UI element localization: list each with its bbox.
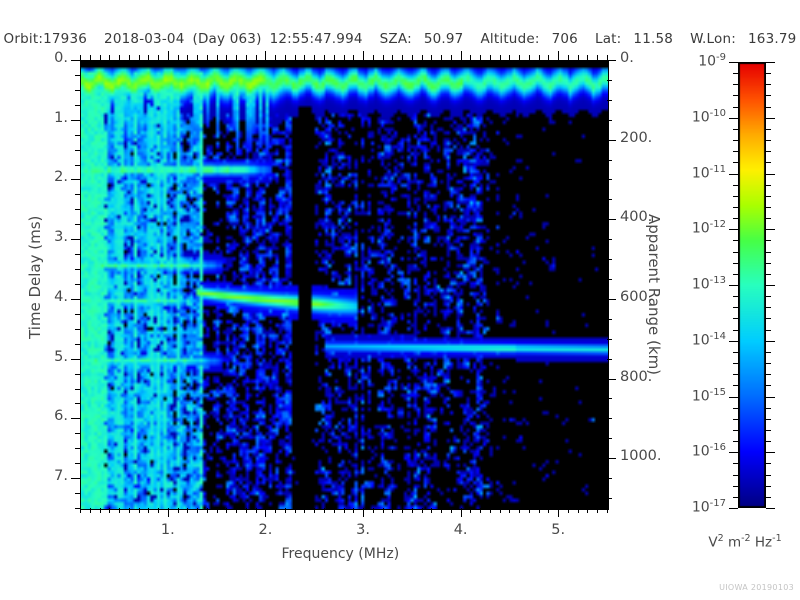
- y2-axis-minor-tick: [607, 239, 612, 240]
- x-axis-major-tick: [168, 508, 169, 517]
- ionogram-figure: Orbit:17936 2018-03-04 (Day 063) 12:55:4…: [0, 0, 800, 600]
- x-axis-top-tick: [139, 55, 140, 60]
- x-axis-top-tick: [226, 55, 227, 60]
- x-axis-minor-tick: [90, 508, 91, 513]
- colorbar-minor-tick: [733, 363, 738, 364]
- colorbar-label-mantissa: 10: [692, 277, 710, 293]
- y-axis-minor-tick: [75, 150, 80, 151]
- spectrogram-plot-area: [80, 60, 609, 510]
- y-axis-major-tick: [71, 179, 80, 180]
- colorbar-minor-tick: [766, 374, 771, 375]
- colorbar-major-tick: [729, 174, 738, 175]
- y-axis-minor-tick: [75, 463, 80, 464]
- colorbar-tick-label: 10-13: [672, 275, 726, 293]
- y2-axis-minor-tick: [607, 398, 612, 399]
- west-longitude-label: W.Lon:: [690, 31, 736, 47]
- colorbar-minor-tick: [733, 73, 738, 74]
- x-axis-top-tick: [392, 55, 393, 60]
- colorbar-label-mantissa: 10: [698, 54, 716, 70]
- colorbar-minor-tick: [766, 207, 771, 208]
- colorbar-minor-tick: [733, 307, 738, 308]
- y2-axis-major-tick: [607, 458, 616, 459]
- y-axis-minor-tick: [75, 165, 80, 166]
- unit-meters: m: [728, 535, 741, 551]
- x-axis-top-tick: [509, 55, 510, 60]
- y2-axis-major-tick: [607, 299, 616, 300]
- colorbar-major-tick: [766, 285, 775, 286]
- x-axis-minor-tick: [392, 508, 393, 513]
- colorbar-minor-tick: [733, 352, 738, 353]
- x-axis-title: Frequency (MHz): [282, 546, 400, 562]
- x-axis-minor-tick: [256, 508, 257, 513]
- west-longitude-value: 163.79: [748, 31, 796, 47]
- x-axis-minor-tick: [139, 508, 140, 513]
- spectrogram-image: [81, 61, 608, 509]
- x-axis-top-tick: [461, 51, 462, 60]
- x-axis-minor-tick: [587, 508, 588, 513]
- x-axis-minor-tick: [490, 508, 491, 513]
- x-axis-top-tick: [353, 55, 354, 60]
- y2-axis-tick-label: 1000.: [620, 448, 674, 464]
- x-axis-minor-tick: [519, 508, 520, 513]
- colorbar-minor-tick: [733, 296, 738, 297]
- colorbar-minor-tick: [733, 84, 738, 85]
- y2-axis-minor-tick: [607, 359, 612, 360]
- y-axis-major-tick: [71, 239, 80, 240]
- colorbar-minor-tick: [733, 129, 738, 130]
- y2-axis-minor-tick: [607, 259, 612, 260]
- y2-axis-tick-label: 0.: [620, 50, 674, 66]
- x-axis-top-tick: [285, 55, 286, 60]
- y2-axis-major-tick: [607, 140, 616, 141]
- sza-label: SZA:: [380, 31, 412, 47]
- colorbar-tick-label: 10-17: [672, 498, 726, 516]
- y-axis-minor-tick: [75, 344, 80, 345]
- x-axis-major-tick: [363, 508, 364, 517]
- colorbar-minor-tick: [766, 162, 771, 163]
- y2-axis-minor-tick: [607, 100, 612, 101]
- colorbar-minor-tick: [766, 263, 771, 264]
- x-axis-minor-tick: [500, 508, 501, 513]
- x-axis-top-tick: [207, 55, 208, 60]
- colorbar-minor-tick: [766, 218, 771, 219]
- y-axis-minor-tick: [75, 135, 80, 136]
- x-axis-minor-tick: [158, 508, 159, 513]
- x-axis-top-tick: [246, 55, 247, 60]
- colorbar-minor-tick: [766, 486, 771, 487]
- colorbar-minor-tick: [766, 151, 771, 152]
- x-axis-minor-tick: [285, 508, 286, 513]
- colorbar-unit-label: V2 m-2 Hz-1: [690, 533, 800, 551]
- colorbar-label-mantissa: 10: [692, 500, 710, 516]
- sza-value: 50.97: [424, 31, 464, 47]
- x-axis-minor-tick: [324, 508, 325, 513]
- colorbar-minor-tick: [766, 430, 771, 431]
- colorbar-minor-tick: [733, 463, 738, 464]
- y2-axis-minor-tick: [607, 199, 612, 200]
- x-axis-top-tick: [168, 51, 169, 60]
- unit-hertz-exponent: -1: [772, 533, 781, 544]
- x-axis-top-tick: [80, 55, 81, 60]
- colorbar-minor-tick: [766, 408, 771, 409]
- colorbar-minor-tick: [733, 263, 738, 264]
- x-axis-major-tick: [265, 508, 266, 517]
- colorbar-minor-tick: [766, 185, 771, 186]
- x-axis-minor-tick: [217, 508, 218, 513]
- x-axis-top-tick: [148, 55, 149, 60]
- x-axis-minor-tick: [275, 508, 276, 513]
- x-axis-top-tick: [275, 55, 276, 60]
- y2-axis-title: Apparent Range (km): [645, 214, 663, 375]
- colorbar-minor-tick: [766, 419, 771, 420]
- y2-axis-minor-tick: [607, 418, 612, 419]
- x-axis-minor-tick: [597, 508, 598, 513]
- colorbar-label-exponent: -17: [710, 498, 726, 509]
- colorbar-minor-tick: [733, 497, 738, 498]
- colorbar-minor-tick: [733, 441, 738, 442]
- x-axis-minor-tick: [295, 508, 296, 513]
- y2-axis-tick-label: 200.: [620, 130, 674, 146]
- y2-axis-minor-tick: [607, 339, 612, 340]
- x-axis-top-tick: [587, 55, 588, 60]
- y-axis-minor-tick: [75, 314, 80, 315]
- colorbar-minor-tick: [733, 185, 738, 186]
- x-axis-top-tick: [607, 55, 608, 60]
- y-axis-major-tick: [71, 60, 80, 61]
- colorbar-minor-tick: [766, 307, 771, 308]
- y-axis-minor-tick: [75, 75, 80, 76]
- x-axis-top-tick: [217, 55, 218, 60]
- x-axis-top-tick: [158, 55, 159, 60]
- x-axis-minor-tick: [480, 508, 481, 513]
- colorbar-minor-tick: [766, 129, 771, 130]
- colorbar-tick-label: 10-16: [672, 442, 726, 460]
- colorbar-minor-tick: [733, 151, 738, 152]
- x-axis-minor-tick: [578, 508, 579, 513]
- y-axis-major-tick: [71, 418, 80, 419]
- colorbar-minor-tick: [733, 318, 738, 319]
- y-axis-tick-label: 1.: [28, 110, 68, 126]
- colorbar-tick-label: 10-9: [672, 52, 726, 70]
- x-axis-minor-tick: [539, 508, 540, 513]
- x-axis-top-tick: [129, 55, 130, 60]
- y-axis-minor-tick: [75, 284, 80, 285]
- y-axis-minor-tick: [75, 269, 80, 270]
- colorbar-minor-tick: [766, 463, 771, 464]
- x-axis-top-tick: [558, 51, 559, 60]
- x-axis-minor-tick: [80, 508, 81, 513]
- x-axis-top-tick: [548, 55, 549, 60]
- x-axis-tick-label: 1.: [143, 522, 193, 538]
- colorbar-minor-tick: [766, 252, 771, 253]
- colorbar-label-exponent: -13: [710, 275, 726, 286]
- x-axis-top-tick: [236, 55, 237, 60]
- y2-axis-minor-tick: [607, 478, 612, 479]
- colorbar-major-tick: [766, 118, 775, 119]
- y2-axis-major-tick: [607, 379, 616, 380]
- x-axis-minor-tick: [509, 508, 510, 513]
- colorbar-minor-tick: [733, 140, 738, 141]
- colorbar-minor-tick: [766, 84, 771, 85]
- colorbar-label-mantissa: 10: [692, 221, 710, 237]
- colorbar-tick-label: 10-15: [672, 387, 726, 405]
- x-axis-top-tick: [597, 55, 598, 60]
- y2-axis-minor-tick: [607, 319, 612, 320]
- colorbar-label-exponent: -15: [710, 387, 726, 398]
- x-axis-top-tick: [256, 55, 257, 60]
- x-axis-top-tick: [304, 55, 305, 60]
- x-axis-top-tick: [178, 55, 179, 60]
- colorbar-minor-tick: [766, 363, 771, 364]
- y-axis-tick-label: 2.: [28, 169, 68, 185]
- colorbar-minor-tick: [766, 240, 771, 241]
- x-axis-top-tick: [363, 51, 364, 60]
- x-axis-top-tick: [197, 55, 198, 60]
- colorbar-minor-tick: [766, 441, 771, 442]
- y-axis-minor-tick: [75, 493, 80, 494]
- latitude-value: 11.58: [633, 31, 673, 47]
- latitude-label: Lat:: [595, 31, 621, 47]
- x-axis-tick-label: 4.: [436, 522, 486, 538]
- x-axis-top-tick: [100, 55, 101, 60]
- colorbar-minor-tick: [733, 330, 738, 331]
- colorbar-minor-tick: [766, 475, 771, 476]
- x-axis-minor-tick: [607, 508, 608, 513]
- observation-date: 2018-03-04: [104, 31, 184, 47]
- colorbar-minor-tick: [766, 296, 771, 297]
- colorbar-minor-tick: [766, 196, 771, 197]
- x-axis-top-tick: [480, 55, 481, 60]
- altitude-value: 706: [552, 31, 578, 47]
- y-axis-title: Time Delay (ms): [26, 216, 44, 339]
- x-axis-minor-tick: [314, 508, 315, 513]
- colorbar-minor-tick: [766, 140, 771, 141]
- colorbar-major-tick: [729, 118, 738, 119]
- colorbar-minor-tick: [733, 240, 738, 241]
- y-axis-tick-label: 6.: [28, 408, 68, 424]
- colorbar-label-exponent: -10: [710, 108, 726, 119]
- x-axis-minor-tick: [548, 508, 549, 513]
- y-axis-tick-label: 5.: [28, 349, 68, 365]
- x-axis-minor-tick: [402, 508, 403, 513]
- x-axis-top-tick: [519, 55, 520, 60]
- colorbar-minor-tick: [733, 408, 738, 409]
- x-axis-minor-tick: [129, 508, 130, 513]
- y-axis-minor-tick: [75, 403, 80, 404]
- colorbar-minor-tick: [733, 274, 738, 275]
- x-axis-top-tick: [119, 55, 120, 60]
- x-axis-minor-tick: [246, 508, 247, 513]
- colorbar-major-tick: [729, 285, 738, 286]
- colorbar-major-tick: [766, 174, 775, 175]
- unit-volts: V: [708, 535, 717, 551]
- y-axis-minor-tick: [75, 224, 80, 225]
- colorbar-major-tick: [729, 229, 738, 230]
- y2-axis-minor-tick: [607, 160, 612, 161]
- colorbar-minor-tick: [733, 162, 738, 163]
- colorbar-minor-tick: [766, 330, 771, 331]
- x-axis-tick-label: 5.: [533, 522, 583, 538]
- x-axis-minor-tick: [207, 508, 208, 513]
- x-axis-tick-label: 3.: [338, 522, 388, 538]
- colorbar-minor-tick: [733, 218, 738, 219]
- colorbar-major-tick: [729, 508, 738, 509]
- colorbar-tick-label: 10-11: [672, 164, 726, 182]
- x-axis-top-tick: [344, 55, 345, 60]
- x-axis-minor-tick: [431, 508, 432, 513]
- colorbar-label-mantissa: 10: [692, 444, 710, 460]
- colorbar-minor-tick: [766, 318, 771, 319]
- x-axis-minor-tick: [529, 508, 530, 513]
- colorbar-label-exponent: -12: [710, 219, 726, 230]
- x-axis-minor-tick: [100, 508, 101, 513]
- colorbar-major-tick: [766, 508, 775, 509]
- colorbar-minor-tick: [766, 107, 771, 108]
- x-axis-minor-tick: [187, 508, 188, 513]
- colorbar-major-tick: [766, 62, 775, 63]
- colorbar-major-tick: [729, 341, 738, 342]
- observation-time: 12:55:47.994: [270, 31, 363, 47]
- x-axis-minor-tick: [344, 508, 345, 513]
- colorbar-minor-tick: [733, 419, 738, 420]
- orbit-label: Orbit:: [4, 31, 44, 47]
- colorbar-major-tick: [766, 341, 775, 342]
- x-axis-minor-tick: [441, 508, 442, 513]
- colorbar-major-tick: [766, 397, 775, 398]
- colorbar-major-tick: [729, 452, 738, 453]
- watermark-credit: UIOWA 20190103: [719, 583, 794, 592]
- unit-meters-exponent: -2: [741, 533, 750, 544]
- colorbar-label-mantissa: 10: [692, 389, 710, 405]
- colorbar-minor-tick: [766, 274, 771, 275]
- x-axis-minor-tick: [383, 508, 384, 513]
- y-axis-major-tick: [71, 299, 80, 300]
- colorbar-minor-tick: [733, 430, 738, 431]
- colorbar-minor-tick: [733, 196, 738, 197]
- x-axis-top-tick: [568, 55, 569, 60]
- x-axis-minor-tick: [373, 508, 374, 513]
- x-axis-top-tick: [334, 55, 335, 60]
- x-axis-top-tick: [295, 55, 296, 60]
- x-axis-top-tick: [422, 55, 423, 60]
- x-axis-minor-tick: [422, 508, 423, 513]
- y-axis-minor-tick: [75, 433, 80, 434]
- x-axis-top-tick: [578, 55, 579, 60]
- x-axis-top-tick: [373, 55, 374, 60]
- x-axis-minor-tick: [334, 508, 335, 513]
- x-axis-top-tick: [265, 51, 266, 60]
- y-axis-minor-tick: [75, 448, 80, 449]
- x-axis-minor-tick: [353, 508, 354, 513]
- y2-axis-major-tick: [607, 219, 616, 220]
- colorbar-label-exponent: -14: [710, 331, 726, 342]
- y2-axis-minor-tick: [607, 80, 612, 81]
- y-axis-major-tick: [71, 359, 80, 360]
- orbit-value: 17936: [43, 31, 87, 47]
- colorbar-minor-tick: [766, 385, 771, 386]
- x-axis-top-tick: [431, 55, 432, 60]
- colorbar-minor-tick: [766, 73, 771, 74]
- colorbar-minor-tick: [766, 352, 771, 353]
- x-axis-top-tick: [470, 55, 471, 60]
- colorbar-major-tick: [729, 62, 738, 63]
- unit-hertz: Hz: [755, 535, 772, 551]
- colorbar-tick-label: 10-10: [672, 108, 726, 126]
- colorbar-gradient: [738, 62, 766, 508]
- y2-axis-minor-tick: [607, 279, 612, 280]
- colorbar-label-exponent: -9: [716, 52, 726, 63]
- colorbar-label-exponent: -11: [710, 164, 726, 175]
- y-axis-minor-tick: [75, 90, 80, 91]
- x-axis-tick-label: 2.: [240, 522, 290, 538]
- y-axis-tick-label: 0.: [28, 50, 68, 66]
- colorbar-major-tick: [729, 397, 738, 398]
- y-axis-major-tick: [71, 478, 80, 479]
- x-axis-minor-tick: [178, 508, 179, 513]
- unit-volts-exponent: 2: [718, 533, 724, 544]
- x-axis-top-tick: [187, 55, 188, 60]
- x-axis-major-tick: [558, 508, 559, 517]
- colorbar-minor-tick: [733, 374, 738, 375]
- x-axis-top-tick: [314, 55, 315, 60]
- altitude-label: Altitude:: [480, 31, 539, 47]
- y-axis-major-tick: [71, 120, 80, 121]
- x-axis-top-tick: [90, 55, 91, 60]
- x-axis-minor-tick: [568, 508, 569, 513]
- x-axis-minor-tick: [148, 508, 149, 513]
- x-axis-minor-tick: [451, 508, 452, 513]
- y-axis-minor-tick: [75, 209, 80, 210]
- y-axis-minor-tick: [75, 194, 80, 195]
- colorbar-label-exponent: -16: [710, 442, 726, 453]
- x-axis-minor-tick: [470, 508, 471, 513]
- x-axis-top-tick: [529, 55, 530, 60]
- colorbar: [738, 62, 766, 508]
- x-axis-top-tick: [451, 55, 452, 60]
- colorbar-minor-tick: [733, 207, 738, 208]
- x-axis-top-tick: [109, 55, 110, 60]
- colorbar-minor-tick: [766, 95, 771, 96]
- y2-axis-major-tick: [607, 60, 616, 61]
- colorbar-tick-label: 10-12: [672, 219, 726, 237]
- x-axis-top-tick: [539, 55, 540, 60]
- x-axis-minor-tick: [109, 508, 110, 513]
- x-axis-minor-tick: [304, 508, 305, 513]
- x-axis-top-tick: [500, 55, 501, 60]
- x-axis-top-tick: [383, 55, 384, 60]
- x-axis-minor-tick: [226, 508, 227, 513]
- colorbar-major-tick: [766, 452, 775, 453]
- x-axis-minor-tick: [119, 508, 120, 513]
- y-axis-tick-label: 7.: [28, 468, 68, 484]
- colorbar-label-mantissa: 10: [692, 333, 710, 349]
- x-axis-top-tick: [402, 55, 403, 60]
- x-axis-minor-tick: [412, 508, 413, 513]
- colorbar-minor-tick: [766, 497, 771, 498]
- colorbar-minor-tick: [733, 95, 738, 96]
- x-axis-minor-tick: [236, 508, 237, 513]
- colorbar-tick-label: 10-14: [672, 331, 726, 349]
- figure-header: Orbit:17936 2018-03-04 (Day 063) 12:55:4…: [0, 28, 800, 50]
- y-axis-minor-tick: [75, 329, 80, 330]
- x-axis-top-tick: [324, 55, 325, 60]
- x-axis-top-tick: [490, 55, 491, 60]
- y2-axis-minor-tick: [607, 498, 612, 499]
- x-axis-major-tick: [461, 508, 462, 517]
- y-axis-minor-tick: [75, 105, 80, 106]
- y2-axis-minor-tick: [607, 120, 612, 121]
- colorbar-minor-tick: [733, 107, 738, 108]
